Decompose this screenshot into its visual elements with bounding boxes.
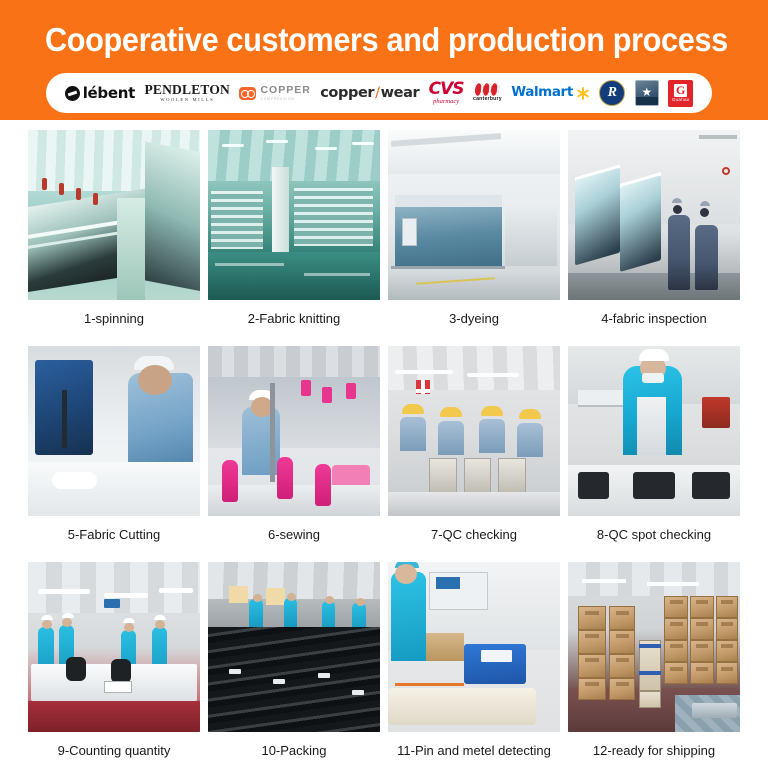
process-photo-spinning	[28, 130, 200, 300]
g-subtext: Guahao	[672, 98, 690, 103]
logo-walmart: Walmart	[511, 76, 590, 110]
copperwear-right: wear	[381, 86, 420, 101]
logo-canterbury: canterbury	[473, 76, 502, 110]
process-step-5: 5-Fabric Cutting	[28, 346, 200, 554]
process-row: 1-spinning 2-Fabric knitting	[28, 130, 740, 338]
star-badge-bar	[636, 97, 658, 105]
process-photo-dyeing	[388, 130, 560, 300]
walmart-wordmark: Walmart	[511, 86, 573, 100]
process-photo-counting-quantity	[28, 562, 200, 732]
process-caption: 1-spinning	[28, 300, 200, 338]
logo-g-brand: G Guahao	[668, 80, 693, 107]
process-step-4: 4-fabric inspection	[568, 130, 740, 338]
logo-copperwear: copper/wear	[320, 76, 419, 110]
process-photo-sewing	[208, 346, 380, 516]
copper-subtext: COMPRESSION	[260, 98, 310, 101]
process-photo-fabric-knitting	[208, 130, 380, 300]
process-caption: 3-dyeing	[388, 300, 560, 338]
copper-wordmark: COPPER	[260, 85, 310, 96]
process-caption: 5-Fabric Cutting	[28, 516, 200, 554]
process-caption: 6-sewing	[208, 516, 380, 554]
process-caption: 8-QC spot checking	[568, 516, 740, 554]
process-step-8: 8-QC spot checking	[568, 346, 740, 554]
process-row: 9-Counting quantity 1	[28, 562, 740, 768]
logo-pendleton: PENDLETON WOOLEN MILLS	[144, 76, 230, 110]
process-photo-pin-metal-detecting	[388, 562, 560, 732]
customer-logo-bar: lébent PENDLETON WOOLEN MILLS COPPER COM…	[46, 73, 712, 113]
process-caption: 7-QC checking	[388, 516, 560, 554]
process-caption: 9-Counting quantity	[28, 732, 200, 768]
canterbury-kicks-icon	[475, 83, 499, 96]
lebent-mark-icon	[65, 86, 80, 101]
cvs-wordmark: CVS	[429, 81, 464, 98]
process-photo-qc-spot-checking	[568, 346, 740, 516]
pendleton-wordmark: PENDLETON	[144, 83, 230, 97]
process-photo-fabric-cutting	[28, 346, 200, 516]
process-step-10: 10-Packing	[208, 562, 380, 768]
process-photo-fabric-inspection	[568, 130, 740, 300]
logo-copper: COPPER COMPRESSION	[239, 76, 310, 110]
process-caption: 12-ready for shipping	[568, 732, 740, 768]
logo-lebent: lébent	[65, 76, 135, 110]
process-step-12: 12-ready for shipping	[568, 562, 740, 768]
process-step-11: 11-Pin and metel detecting	[388, 562, 560, 768]
canterbury-wordmark: canterbury	[473, 97, 502, 102]
pendleton-subtext: WOOLEN MILLS	[160, 98, 214, 103]
walmart-spark-icon	[576, 86, 590, 100]
process-step-7: 7-QC checking	[388, 346, 560, 554]
process-photo-qc-checking	[388, 346, 560, 516]
logo-rr-crest: R	[599, 80, 625, 106]
process-photo-ready-for-shipping	[568, 562, 740, 732]
production-process-grid: 1-spinning 2-Fabric knitting	[0, 120, 768, 768]
copperwear-left: copper	[320, 86, 374, 101]
process-step-3: 3-dyeing	[388, 130, 560, 338]
process-caption: 11-Pin and metel detecting	[388, 732, 560, 768]
process-caption: 4-fabric inspection	[568, 300, 740, 338]
rr-letter: R	[608, 86, 617, 100]
infographic-page: Cooperative customers and production pro…	[0, 0, 768, 768]
process-step-6: 6-sewing	[208, 346, 380, 554]
process-photo-packing	[208, 562, 380, 732]
logo-star-badge: ★	[635, 80, 659, 106]
process-step-9: 9-Counting quantity	[28, 562, 200, 768]
process-step-2: 2-Fabric knitting	[208, 130, 380, 338]
g-letter: G	[674, 84, 687, 97]
process-row: 5-Fabric Cutting 6-se	[28, 346, 740, 554]
lebent-wordmark: lébent	[83, 86, 135, 101]
logo-cvs: CVS pharmacy	[429, 76, 464, 110]
page-title: Cooperative customers and production pro…	[45, 19, 696, 61]
process-step-1: 1-spinning	[28, 130, 200, 338]
cvs-subtext: pharmacy	[433, 99, 459, 106]
copper-badge-icon	[239, 87, 256, 100]
process-caption: 2-Fabric knitting	[208, 300, 380, 338]
process-caption: 10-Packing	[208, 732, 380, 768]
